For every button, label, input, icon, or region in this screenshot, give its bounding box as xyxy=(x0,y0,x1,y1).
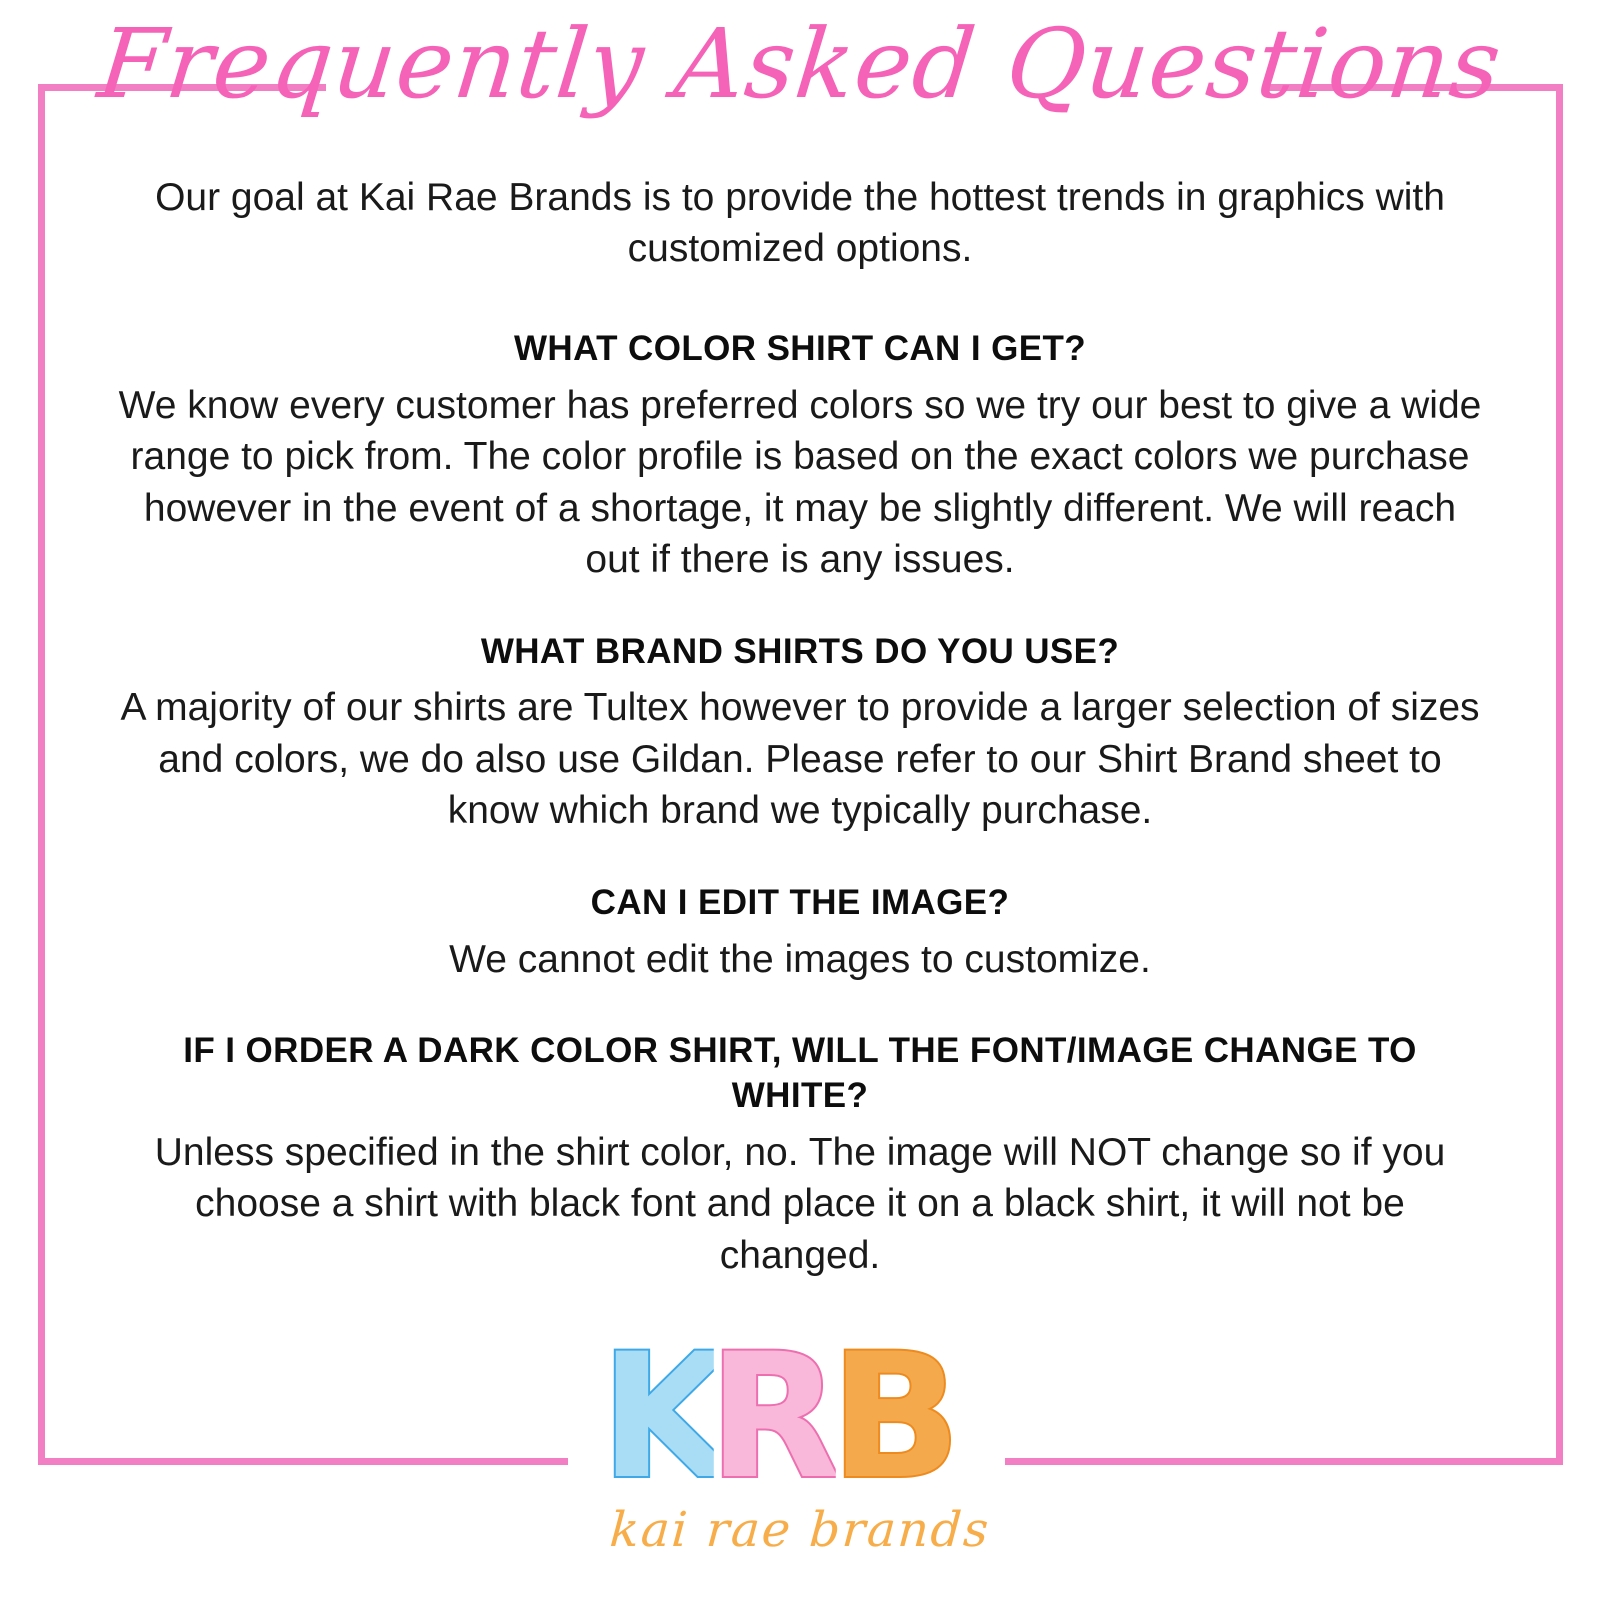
faq-item-color: WHAT COLOR SHIRT CAN I GET? We know ever… xyxy=(110,327,1490,586)
page-title: Frequently Asked Questions xyxy=(0,14,1600,115)
brand-logo: K R R B B kai rae brands xyxy=(0,1338,1600,1558)
faq-answer-edit: We cannot edit the images to customize. xyxy=(110,934,1490,985)
faq-content: Our goal at Kai Rae Brands is to provide… xyxy=(110,172,1490,1325)
faq-item-dark-shirt: IF I ORDER A DARK COLOR SHIRT, WILL THE … xyxy=(110,1029,1490,1281)
faq-item-brand: WHAT BRAND SHIRTS DO YOU USE? A majority… xyxy=(110,630,1490,837)
logo-wordmark: kai rae brands xyxy=(608,1502,992,1558)
frame-border-right xyxy=(1556,84,1563,1465)
faq-page: Frequently Asked Questions Our goal at K… xyxy=(0,0,1600,1600)
faq-question-edit: CAN I EDIT THE IMAGE? xyxy=(110,881,1490,926)
faq-question-color: WHAT COLOR SHIRT CAN I GET? xyxy=(110,327,1490,372)
faq-question-brand: WHAT BRAND SHIRTS DO YOU USE? xyxy=(110,630,1490,675)
intro-paragraph: Our goal at Kai Rae Brands is to provide… xyxy=(110,172,1490,275)
faq-answer-dark-shirt: Unless specified in the shirt color, no.… xyxy=(110,1127,1490,1281)
faq-answer-brand: A majority of our shirts are Tultex howe… xyxy=(110,682,1490,836)
faq-answer-color: We know every customer has preferred col… xyxy=(110,380,1490,586)
krb-logo-icon: K R R B B xyxy=(590,1338,1010,1508)
frame-border-left xyxy=(38,84,45,1465)
faq-item-edit: CAN I EDIT THE IMAGE? We cannot edit the… xyxy=(110,881,1490,985)
logo-letter-r: R xyxy=(708,1338,840,1508)
faq-question-dark-shirt: IF I ORDER A DARK COLOR SHIRT, WILL THE … xyxy=(110,1029,1490,1119)
logo-letter-b: B xyxy=(830,1338,961,1508)
